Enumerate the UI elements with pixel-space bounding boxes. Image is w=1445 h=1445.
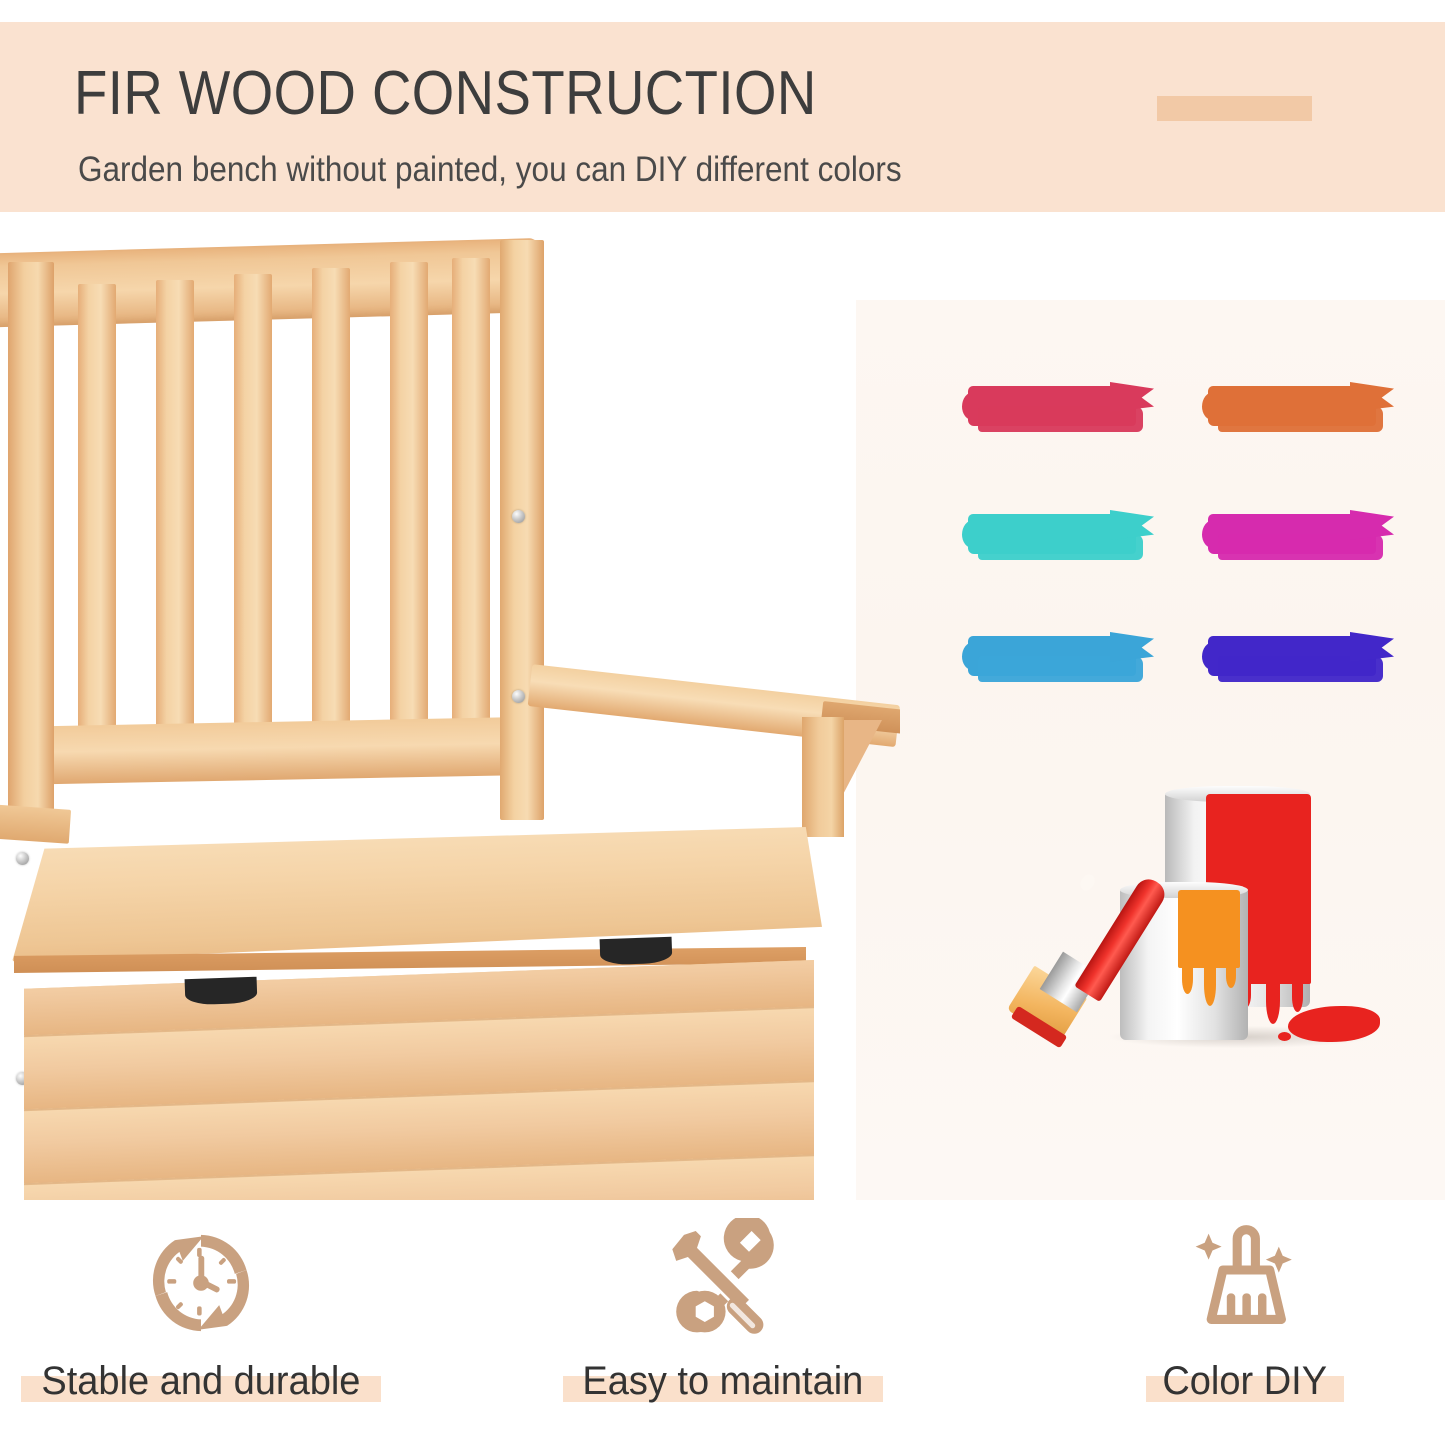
paint-drip: [1204, 964, 1216, 1006]
feature-label-wrap: Stable and durable: [33, 1359, 369, 1404]
page-title: FIR WOOD CONSTRUCTION: [74, 58, 817, 129]
storage-bench-illustration: [0, 212, 900, 1200]
orange-paint-overflow: [1178, 890, 1240, 968]
bench-right-post: [500, 240, 544, 820]
swatch-stroke-tail: [1110, 632, 1154, 662]
screw-icon: [16, 852, 29, 865]
feature-row: Stable and durable: [0, 1205, 1445, 1445]
product-photo: [0, 212, 900, 1200]
screw-icon: [512, 690, 525, 703]
bench-seat-lid: [12, 827, 822, 962]
armrest-support-post: [802, 717, 844, 837]
back-slat: [78, 284, 116, 754]
screw-icon: [512, 510, 525, 523]
paint-cans-illustration: [1000, 770, 1390, 1070]
swatch-crimson: [960, 380, 1150, 432]
feature-label: Easy to maintain: [583, 1359, 864, 1404]
back-slat: [156, 280, 194, 752]
swatch-sky-blue: [960, 630, 1150, 682]
armrest-bracket: [838, 720, 882, 804]
paint-brush-sparkle-icon: [1175, 1213, 1315, 1353]
feature-stable-and-durable: Stable and durable: [0, 1205, 442, 1445]
swatch-stroke-tail: [1350, 632, 1394, 662]
swatch-indigo: [1200, 630, 1390, 682]
swatch-turquoise: [960, 508, 1150, 560]
bench-left-post: [8, 262, 54, 822]
swatch-magenta: [1200, 508, 1390, 560]
feature-label: Stable and durable: [41, 1359, 360, 1404]
swatch-stroke-tail: [1110, 510, 1154, 540]
header-accent-bar: [1157, 96, 1312, 121]
paint-swatch-grid: [960, 380, 1430, 700]
swatch-orange: [1200, 380, 1390, 432]
paint-drip: [1266, 978, 1280, 1024]
back-slat: [452, 258, 490, 744]
storage-box-body: [24, 960, 814, 1200]
bench-back-bottom-rail: [10, 717, 526, 785]
swatch-stroke-tail: [1350, 510, 1394, 540]
bench-left-armrest: [0, 804, 71, 843]
clock-refresh-icon: [131, 1213, 271, 1353]
back-slat: [390, 262, 428, 746]
header-banner: FIR WOOD CONSTRUCTION Garden bench witho…: [0, 22, 1445, 212]
swatch-stroke-tail: [1350, 382, 1394, 412]
feature-label-wrap: Color DIY: [1158, 1359, 1331, 1404]
back-slat: [234, 274, 272, 750]
paint-drip: [1226, 964, 1236, 988]
swatch-stroke-tail: [1110, 382, 1154, 412]
wrench-screwdriver-icon: [653, 1213, 793, 1353]
back-slat: [312, 268, 350, 748]
paint-drip: [1182, 964, 1193, 994]
page-subtitle: Garden bench without painted, you can DI…: [78, 150, 902, 190]
feature-label: Color DIY: [1163, 1359, 1328, 1404]
feature-color-diy: Color DIY: [1004, 1205, 1445, 1445]
brush-handle-hole: [1077, 872, 1097, 893]
feature-easy-to-maintain: Easy to maintain: [482, 1205, 964, 1445]
paint-drip: [1292, 982, 1303, 1012]
product-infographic: FIR WOOD CONSTRUCTION Garden bench witho…: [0, 0, 1445, 1445]
feature-label-wrap: Easy to maintain: [575, 1359, 871, 1404]
paint-spill-droplet: [1278, 1032, 1291, 1041]
